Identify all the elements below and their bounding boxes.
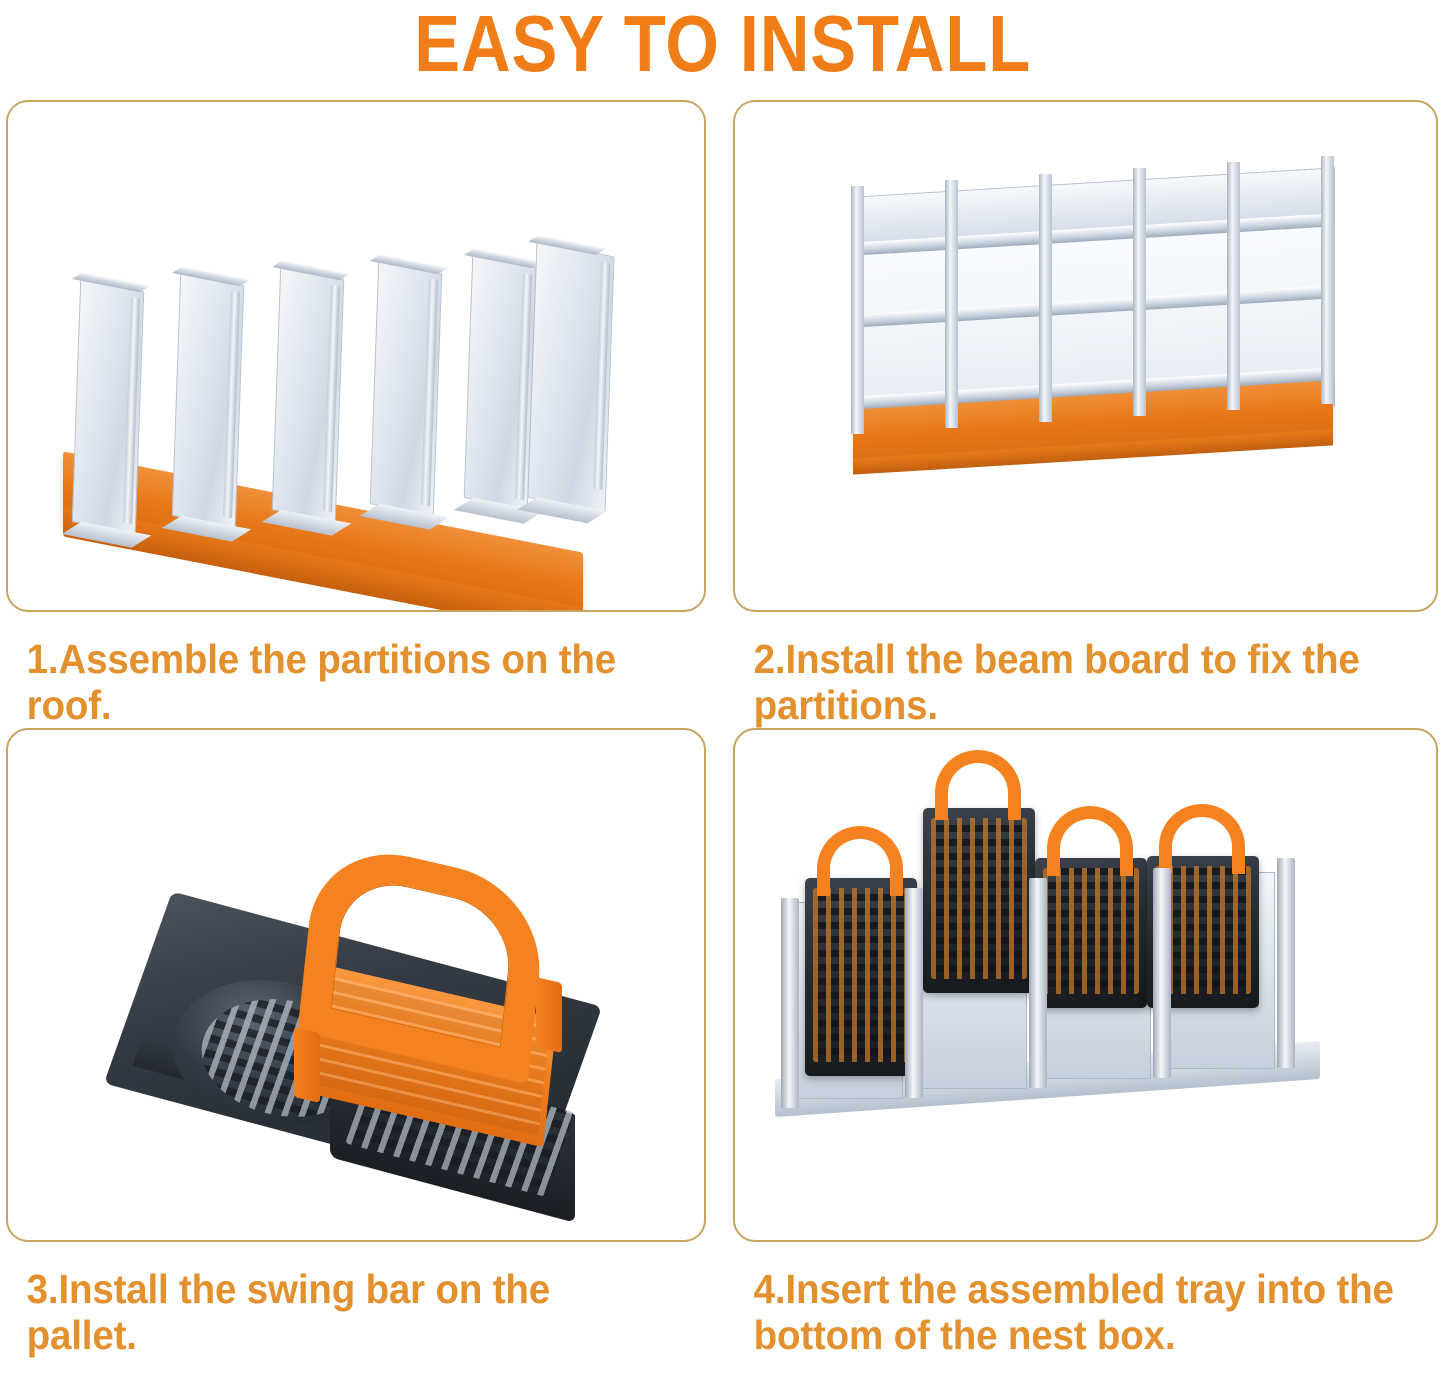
nest-box-post bbox=[1277, 858, 1295, 1068]
illustration-trays-in-nest-box bbox=[735, 730, 1436, 1240]
step-1-caption: 1.Assemble the partitions on the roof. bbox=[6, 612, 664, 728]
assembled-tray bbox=[805, 878, 917, 1076]
tray-handle bbox=[1159, 804, 1245, 874]
nest-box-post bbox=[1153, 868, 1171, 1078]
step-3-caption: 3.Install the swing bar on the pallet. bbox=[6, 1242, 664, 1358]
swing-bar-clip bbox=[536, 977, 562, 1053]
nest-box-post bbox=[905, 888, 923, 1098]
frame-post bbox=[1133, 168, 1146, 416]
frame-post bbox=[1321, 156, 1334, 404]
frame-post bbox=[1227, 162, 1240, 410]
illustration-partitions-on-roof bbox=[8, 102, 704, 610]
nest-box-post bbox=[1029, 878, 1047, 1088]
page-header: EASY TO INSTALL bbox=[0, 0, 1445, 100]
partition-panel bbox=[172, 273, 245, 529]
frame-post bbox=[945, 180, 958, 428]
nest-box-post bbox=[781, 898, 799, 1108]
frame-post bbox=[851, 186, 864, 434]
assembled-tray bbox=[1035, 858, 1147, 1008]
illustration-swing-bar-on-pallet bbox=[8, 730, 704, 1240]
frame-post bbox=[1039, 174, 1052, 422]
tray-handle bbox=[1047, 806, 1133, 876]
step-4: 4.Insert the assembled tray into the bot… bbox=[718, 728, 1445, 1358]
page-title: EASY TO INSTALL bbox=[414, 2, 1031, 86]
step-3: 3.Install the swing bar on the pallet. bbox=[0, 728, 718, 1358]
partition-panel bbox=[72, 279, 145, 535]
assembled-tray bbox=[923, 808, 1035, 993]
partition-panel bbox=[464, 255, 537, 511]
step-4-image-frame bbox=[733, 728, 1438, 1242]
swing-bar-clip bbox=[294, 1027, 320, 1103]
install-steps-grid: 1.Assemble the partitions on the roof. bbox=[0, 100, 1445, 1358]
tray-handle bbox=[817, 826, 903, 896]
partition-panel bbox=[527, 241, 614, 512]
step-3-image-frame bbox=[6, 728, 706, 1242]
step-2-image-frame bbox=[733, 100, 1438, 612]
partition-panel bbox=[272, 267, 345, 523]
tray-handle bbox=[935, 750, 1021, 820]
illustration-beam-board-frame bbox=[735, 102, 1436, 610]
step-1-image-frame bbox=[6, 100, 706, 612]
step-1: 1.Assemble the partitions on the roof. bbox=[0, 100, 718, 728]
partition-panel bbox=[370, 261, 443, 517]
step-2: 2.Install the beam board to fix the part… bbox=[718, 100, 1445, 728]
step-2-caption: 2.Install the beam board to fix the part… bbox=[733, 612, 1396, 728]
step-4-caption: 4.Insert the assembled tray into the bot… bbox=[733, 1242, 1396, 1358]
